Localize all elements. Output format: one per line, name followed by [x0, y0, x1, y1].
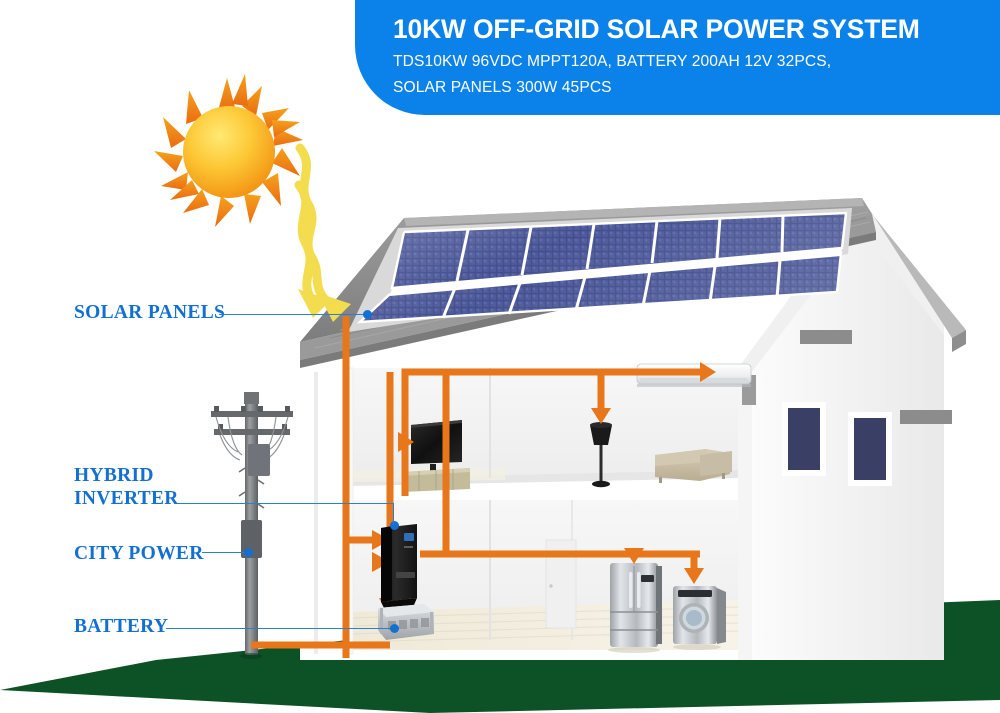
- label-city-power: CITY POWER: [74, 542, 204, 565]
- leader-hybrid-inverter: [178, 503, 394, 504]
- leader-dot-solar-panels: [363, 310, 372, 319]
- leader-solar-panels: [219, 314, 365, 315]
- leader-dot-hybrid-inverter: [390, 521, 399, 530]
- leader-city-power: [202, 552, 248, 553]
- leader-hybrid-inverter-drop: [393, 503, 394, 525]
- labels-layer: SOLAR PANELS HYBRID INVERTER CITY POWER …: [0, 0, 1000, 713]
- leader-battery: [166, 628, 394, 629]
- label-solar-panels: SOLAR PANELS: [74, 301, 225, 324]
- leader-dot-city-power: [244, 548, 253, 557]
- label-battery: BATTERY: [74, 615, 168, 638]
- label-hybrid-inverter: HYBRID INVERTER: [74, 464, 179, 510]
- label-hybrid-line1: HYBRID: [74, 465, 154, 486]
- leader-dot-battery: [390, 624, 399, 633]
- solar-system-diagram: SOLAR PANELS HYBRID INVERTER CITY POWER …: [0, 0, 1000, 713]
- label-hybrid-line2: INVERTER: [74, 488, 179, 509]
